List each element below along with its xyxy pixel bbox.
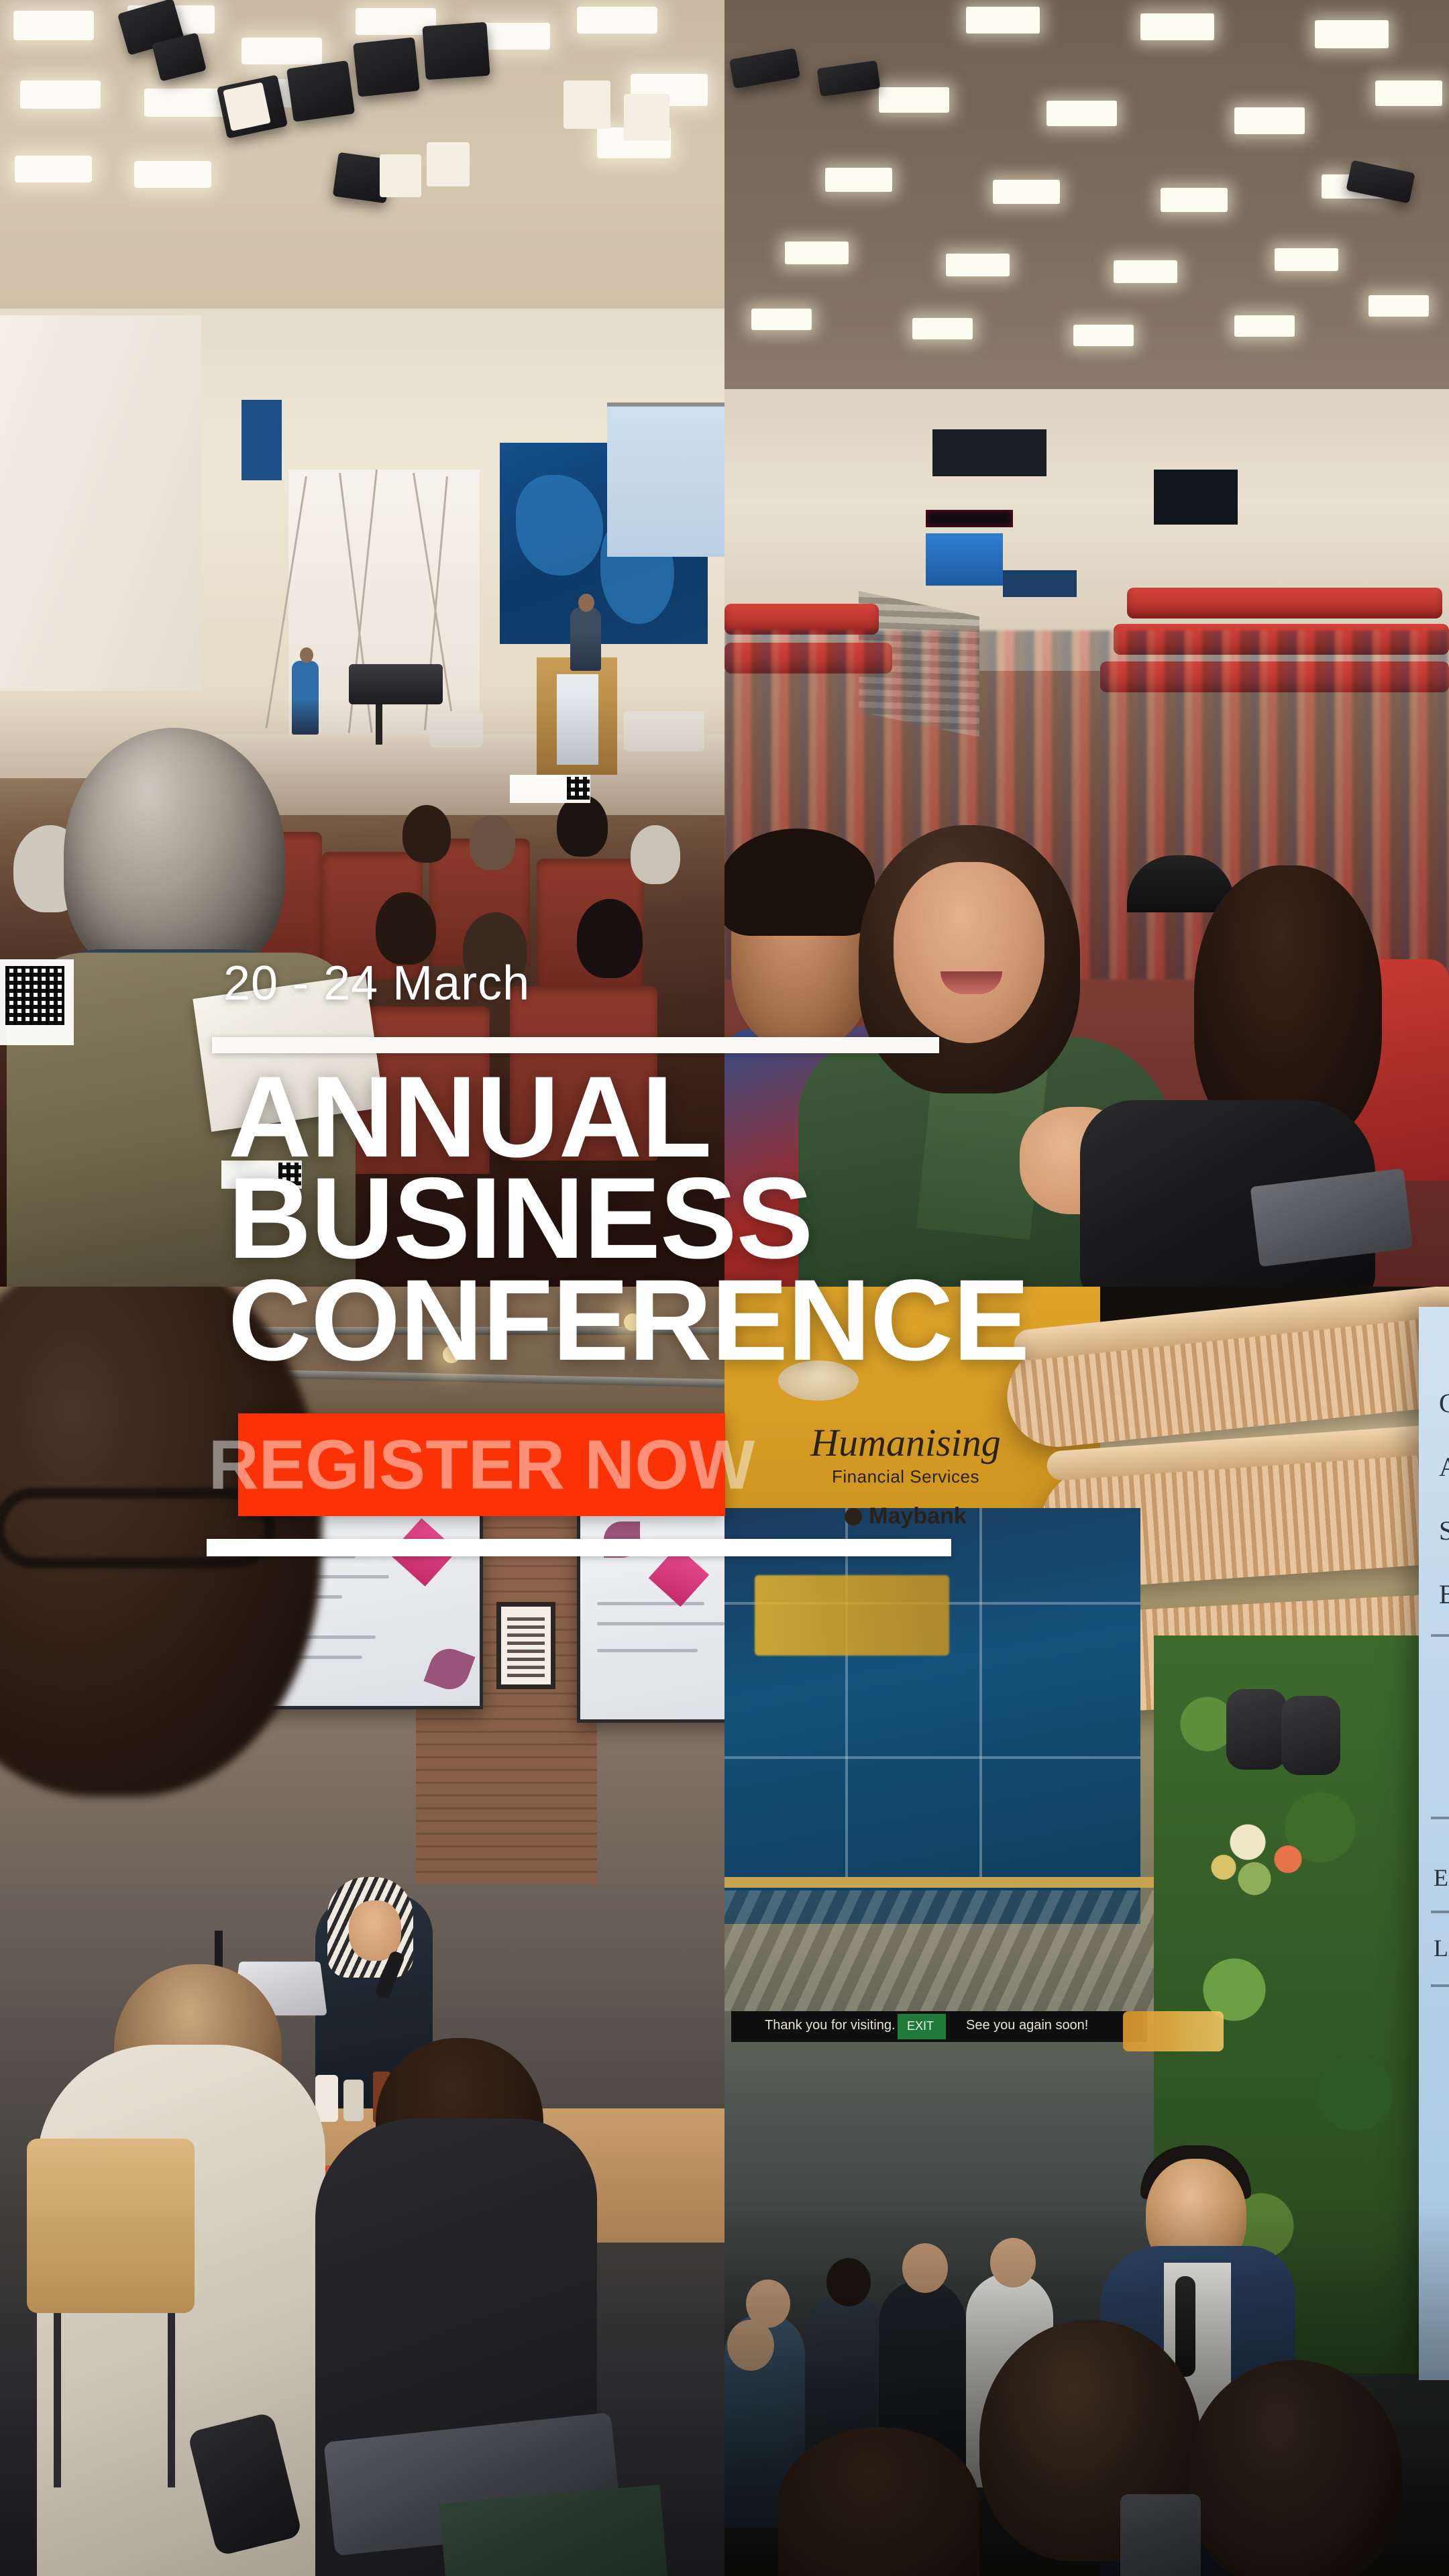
headline-line-1: ANNUAL <box>228 1067 1301 1168</box>
register-now-label: REGISTER NOW <box>209 1430 755 1500</box>
headline-line-3: CONFERENCE <box>228 1270 1301 1371</box>
panel-line-fees: School Fees <box>1439 1515 1449 1546</box>
maybank-signage: Humanising Financial Services Maybank <box>765 1424 1046 1529</box>
panel-line-age: Age on 1st <box>1439 1451 1449 1483</box>
maybank-tagline-script: Humanising <box>765 1424 1046 1462</box>
event-date-range: 20 - 24 March <box>223 959 530 1008</box>
maybank-brand-label: Maybank <box>765 1503 1046 1529</box>
headline-line-2: BUSINESS <box>228 1168 1301 1269</box>
conference-poster: Thank you for visiting. EXIT See you aga… <box>0 0 1449 2576</box>
maybank-logo-icon <box>845 1508 862 1525</box>
page-title: ANNUAL BUSINESS CONFERENCE <box>228 1067 1301 1371</box>
exit-sign-label: EXIT <box>907 2019 934 2033</box>
panel-line-class: Class: Sec. <box>1439 1387 1449 1419</box>
panel-line-literature: Literature <box>1434 1934 1449 1962</box>
divider-top <box>212 1037 939 1053</box>
register-now-button[interactable]: REGISTER NOW <box>238 1413 725 1516</box>
maybank-tagline-sub: Financial Services <box>765 1466 1046 1487</box>
atrium-banner-left: Thank you for visiting. <box>765 2018 896 2033</box>
panel-line-english: English Languag <box>1434 1864 1449 1892</box>
panel-line-basis: Basis of Eli <box>1439 1578 1449 1610</box>
atrium-banner-right: See you again soon! <box>966 2018 1088 2033</box>
divider-bottom <box>207 1539 951 1556</box>
